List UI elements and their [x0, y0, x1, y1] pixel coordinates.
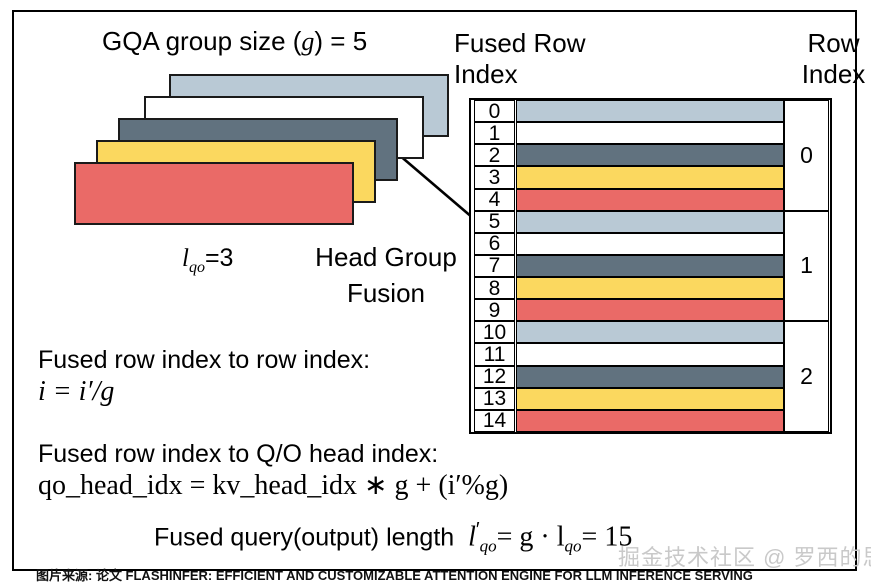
- fused-row-bar: [516, 343, 784, 365]
- head-group-fusion-label: Head GroupFusion: [306, 244, 466, 306]
- fused-row-index-cell: 14: [474, 410, 515, 432]
- fused-row-bar: [516, 299, 784, 321]
- head-group-fusion-line1: Head Group: [315, 242, 457, 272]
- table-row: 5: [471, 211, 830, 233]
- lqo-value: =3: [205, 244, 234, 272]
- fused-row-bar: [516, 410, 784, 432]
- fused-row-index-cell: 6: [474, 233, 515, 255]
- fused-row-bar: [516, 388, 784, 410]
- row-index-group-cell: 2: [784, 321, 829, 432]
- formula-3-rhs: = g · l: [497, 521, 565, 552]
- fused-row-index-cell: 13: [474, 388, 515, 410]
- fused-row-bar: [516, 277, 784, 299]
- fused-row-index-cell: 4: [474, 189, 515, 211]
- fused-row-index-cell: 7: [474, 255, 515, 277]
- head-group-fusion-line2: Fusion: [306, 280, 466, 306]
- fused-row-bar: [516, 321, 784, 343]
- diagram-canvas: GQA group size (g) = 5 Fused RowIndex Ro…: [0, 0, 871, 581]
- formula-3-caption: Fused query(output) length: [154, 523, 454, 551]
- formula-2-math: qo_head_idx = kv_head_idx ∗ g + (i′%g): [38, 472, 508, 500]
- head-group-slab: [74, 162, 354, 225]
- fused-row-index-cell: 9: [474, 299, 515, 321]
- row-index-header-line1: Row: [807, 28, 859, 58]
- fused-row-index-table: 01234567891011121314012: [469, 98, 832, 434]
- fused-row-bar: [516, 100, 784, 122]
- lqo-base-symbol: l: [182, 245, 189, 272]
- head-group-slab-stack: [14, 12, 454, 242]
- table-row: 12: [471, 366, 830, 388]
- fused-row-bar: [516, 233, 784, 255]
- fused-row-header-line2: Index: [454, 61, 586, 87]
- row-index-header-line2: Index: [786, 61, 871, 87]
- fused-row-bar: [516, 144, 784, 166]
- fused-row-bar: [516, 189, 784, 211]
- fused-row-bar: [516, 122, 784, 144]
- formula-3-rhs-sub: qo: [565, 536, 582, 555]
- fused-row-bar: [516, 255, 784, 277]
- formula-1-math: i = i′/g: [38, 378, 114, 406]
- formula-1-caption: Fused row index to row index:: [38, 348, 370, 373]
- table-row: 7: [471, 255, 830, 277]
- fused-row-index-cell: 8: [474, 277, 515, 299]
- table-row: 3: [471, 166, 830, 188]
- table-row: 2: [471, 144, 830, 166]
- table-row: 4: [471, 189, 830, 211]
- lqo-subscript: qo: [189, 259, 205, 276]
- formula-1-expression: i = i′/g: [38, 376, 114, 407]
- fused-row-index-header: Fused RowIndex: [454, 30, 586, 87]
- fused-row-index-cell: 10: [474, 321, 515, 343]
- fused-row-bar: [516, 366, 784, 388]
- source-footer: 图片来源: 论文 FLASHINFER: EFFICIENT AND CUSTO…: [36, 565, 753, 584]
- fused-row-index-cell: 0: [474, 100, 515, 122]
- table-row: 1: [471, 122, 830, 144]
- diagram-frame: GQA group size (g) = 5 Fused RowIndex Ro…: [12, 10, 857, 571]
- fused-row-index-cell: 3: [474, 166, 515, 188]
- table-row: 13: [471, 388, 830, 410]
- fused-row-bar: [516, 211, 784, 233]
- formula-3-lhs: l: [468, 521, 476, 552]
- table-row: 9: [471, 299, 830, 321]
- table-row: 14: [471, 410, 830, 432]
- table-row: 8: [471, 277, 830, 299]
- fused-row-header-line1: Fused Row: [454, 28, 586, 58]
- formula-3-lhs-sub: qo: [480, 536, 497, 555]
- fused-row-index-cell: 2: [474, 144, 515, 166]
- row-index-group-cell: 1: [784, 211, 829, 322]
- lqo-length-label: lqo=3: [182, 246, 233, 276]
- fused-row-index-cell: 12: [474, 366, 515, 388]
- fused-row-index-cell: 5: [474, 211, 515, 233]
- fused-row-bar: [516, 166, 784, 188]
- table-row: 6: [471, 233, 830, 255]
- fused-row-index-cell: 1: [474, 122, 515, 144]
- row-index-group-cell: 0: [784, 100, 829, 211]
- row-index-header: RowIndex: [786, 30, 871, 87]
- fused-row-index-cell: 11: [474, 343, 515, 365]
- table-row: 10: [471, 321, 830, 343]
- table-row: 11: [471, 343, 830, 365]
- table-row: 0: [471, 100, 830, 122]
- formula-3: Fused query(output) length l′qo= g · lqo…: [154, 520, 632, 554]
- formula-2-caption: Fused row index to Q/O head index:: [38, 442, 438, 467]
